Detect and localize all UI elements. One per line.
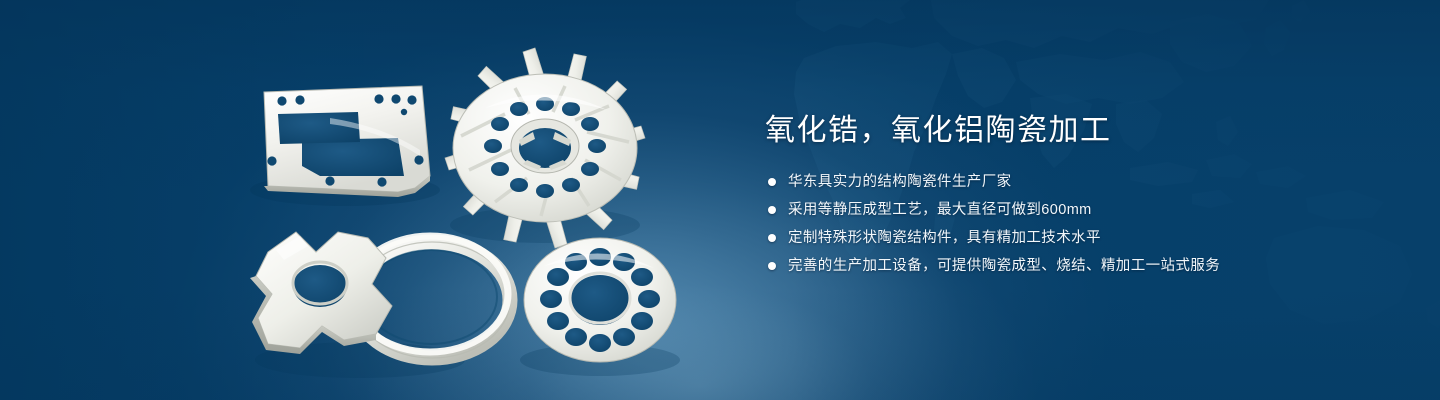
list-item: 华东具实力的结构陶瓷件生产厂家	[768, 171, 1385, 193]
bullet-dot-icon	[768, 262, 776, 270]
bullet-dot-icon	[768, 178, 776, 186]
ceramic-cross-shaped-plate	[250, 232, 392, 354]
ceramic-perforated-annular-disc	[524, 238, 676, 362]
banner-text-block: 氧化锆，氧化铝陶瓷加工 华东具实力的结构陶瓷件生产厂家 采用等静压成型工艺，最大…	[765, 112, 1385, 283]
list-item: 完善的生产加工设备，可提供陶瓷成型、烧结、精加工一站式服务	[768, 255, 1385, 277]
list-item: 定制特殊形状陶瓷结构件，具有精加工技术水平	[768, 227, 1385, 249]
page-title: 氧化锆，氧化铝陶瓷加工	[765, 112, 1385, 150]
feature-list: 华东具实力的结构陶瓷件生产厂家 采用等静压成型工艺，最大直径可做到600mm 定…	[768, 171, 1385, 277]
ceramic-products-image	[0, 0, 760, 400]
list-item-label: 完善的生产加工设备，可提供陶瓷成型、烧结、精加工一站式服务	[788, 255, 1220, 277]
list-item-label: 定制特殊形状陶瓷结构件，具有精加工技术水平	[788, 227, 1101, 249]
list-item-label: 采用等静压成型工艺，最大直径可做到600mm	[788, 199, 1092, 221]
bullet-dot-icon	[768, 234, 776, 242]
hero-banner: 氧化锆，氧化铝陶瓷加工 华东具实力的结构陶瓷件生产厂家 采用等静压成型工艺，最大…	[0, 0, 1440, 400]
list-item: 采用等静压成型工艺，最大直径可做到600mm	[768, 199, 1385, 221]
bullet-dot-icon	[768, 206, 776, 214]
ceramic-machined-plate	[264, 86, 430, 197]
list-item-label: 华东具实力的结构陶瓷件生产厂家	[788, 171, 1012, 193]
